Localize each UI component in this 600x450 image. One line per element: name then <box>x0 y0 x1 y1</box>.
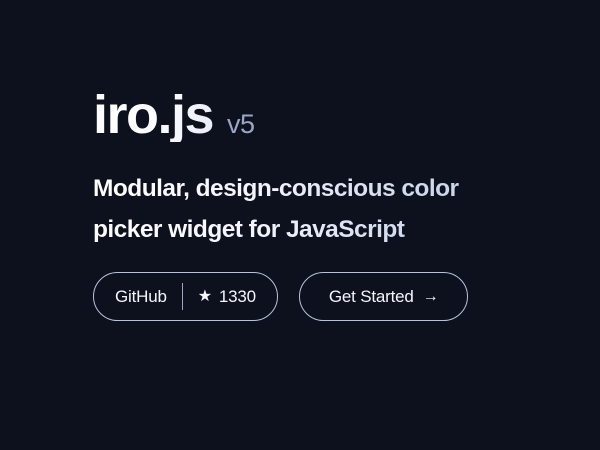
get-started-button[interactable]: Get Started → <box>299 272 469 321</box>
page-title: iro.js <box>93 88 213 142</box>
github-star-count: ★ 1330 <box>198 287 256 307</box>
hero-subtitle: Modular, design-conscious color picker w… <box>93 168 533 250</box>
button-divider <box>182 283 183 310</box>
hero-section: iro.js v5 Modular, design-conscious colo… <box>93 0 563 450</box>
title-row: iro.js v5 <box>93 88 255 142</box>
arrow-right-icon: → <box>423 289 439 305</box>
get-started-button-label: Get Started <box>329 287 414 307</box>
hero-button-row: GitHub ★ 1330 Get Started → <box>93 272 468 321</box>
star-count-value: 1330 <box>219 287 256 307</box>
star-icon: ★ <box>198 289 212 305</box>
github-button[interactable]: GitHub ★ 1330 <box>93 272 278 321</box>
version-label: v5 <box>227 111 255 138</box>
github-button-label: GitHub <box>115 287 167 307</box>
